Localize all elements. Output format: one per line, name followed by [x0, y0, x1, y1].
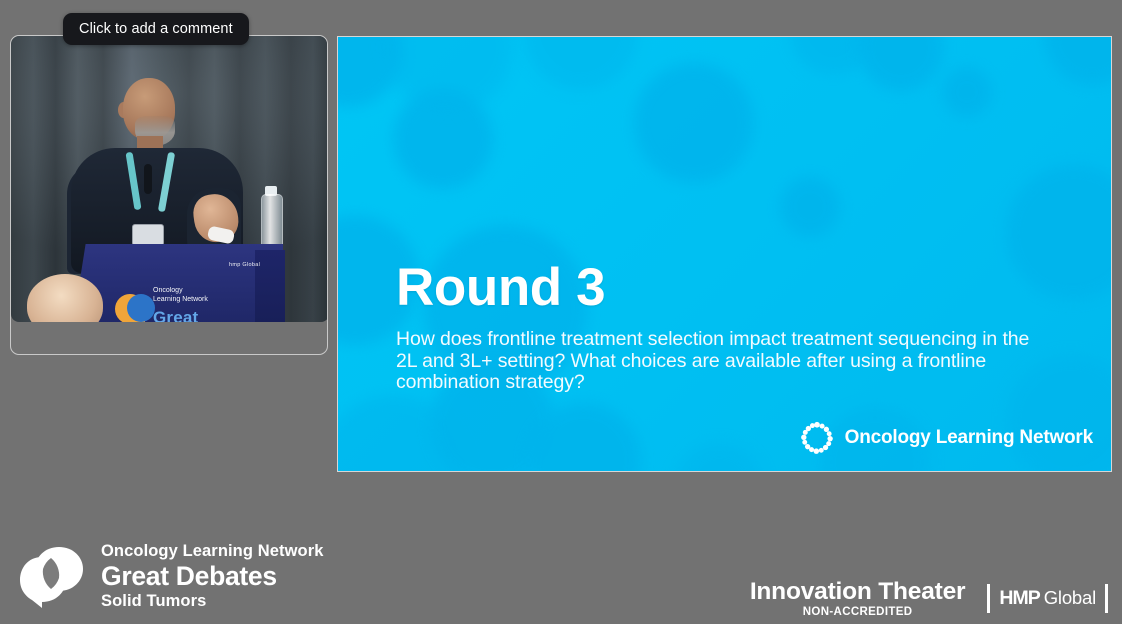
- innovation-theater-block: Innovation Theater NON-ACCREDITED: [750, 578, 966, 619]
- podium-org-line2: Learning Network: [153, 296, 208, 303]
- podium-logo-circle: [127, 294, 155, 322]
- slide-accent-circle: [780, 177, 840, 237]
- slide-accent-circle: [674, 443, 764, 471]
- slide-title: Round 3: [396, 259, 1056, 317]
- podium-series-label: Great: [153, 308, 198, 322]
- footer-brand-line1: Oncology Learning Network: [101, 542, 324, 561]
- podium-org-label: Oncology Learning Network: [153, 286, 208, 304]
- podium-side: [255, 250, 285, 322]
- speaker-video-frame[interactable]: hmp Global Oncology Learning Network Gre…: [11, 36, 328, 322]
- podium-hmp-global-label: hmp Global: [229, 262, 260, 268]
- name-badge: [132, 224, 164, 246]
- footer-brand-line2: Great Debates: [101, 561, 324, 591]
- microphone: [144, 164, 152, 194]
- hmp-global-logo: HMP Global: [987, 584, 1108, 613]
- speech-bubbles-icon: [18, 545, 86, 609]
- water-bottle: [261, 194, 283, 248]
- presentation-slide-panel[interactable]: Round 3 How does frontline treatment sel…: [337, 36, 1112, 472]
- slide-subtitle: How does frontline treatment selection i…: [396, 329, 1046, 394]
- footer-brand-text: Oncology Learning Network Great Debates …: [101, 542, 324, 611]
- footer-brand-left: Oncology Learning Network Great Debates …: [18, 542, 324, 611]
- hmp-left-bar: [987, 584, 990, 613]
- slide-accent-circle: [383, 37, 513, 112]
- footer-brand-line3: Solid Tumors: [101, 591, 324, 611]
- slide-accent-circle: [858, 37, 944, 91]
- podium-org-line1: Oncology: [153, 287, 183, 294]
- slide-accent-circle: [523, 37, 638, 90]
- slide-text-content: Round 3 How does frontline treatment sel…: [396, 259, 1056, 394]
- slide-accent-circle: [634, 63, 754, 183]
- hmp-word: Global: [1044, 587, 1096, 609]
- video-panel-footer: [11, 322, 327, 354]
- add-comment-tooltip[interactable]: Click to add a comment: [63, 13, 249, 45]
- slide-logo: Oncology Learning Network: [800, 421, 1093, 455]
- hmp-right-bar: [1105, 584, 1108, 613]
- footer-brand-right: Innovation Theater NON-ACCREDITED HMP Gl…: [750, 578, 1108, 619]
- hmp-global-label: HMP Global: [999, 587, 1096, 610]
- innovation-theater-title: Innovation Theater: [750, 578, 966, 605]
- slide-logo-label: Oncology Learning Network: [845, 427, 1093, 449]
- slide-accent-circle: [942, 67, 992, 117]
- add-comment-label: Click to add a comment: [79, 21, 233, 37]
- hmp-mark: HMP: [999, 587, 1039, 610]
- slide-accent-circle: [1044, 37, 1111, 85]
- ring-of-dots-icon: [800, 421, 834, 455]
- speaker-video-panel[interactable]: hmp Global Oncology Learning Network Gre…: [10, 35, 328, 355]
- innovation-theater-subtitle: NON-ACCREDITED: [803, 605, 913, 619]
- slide-background: [338, 37, 1111, 471]
